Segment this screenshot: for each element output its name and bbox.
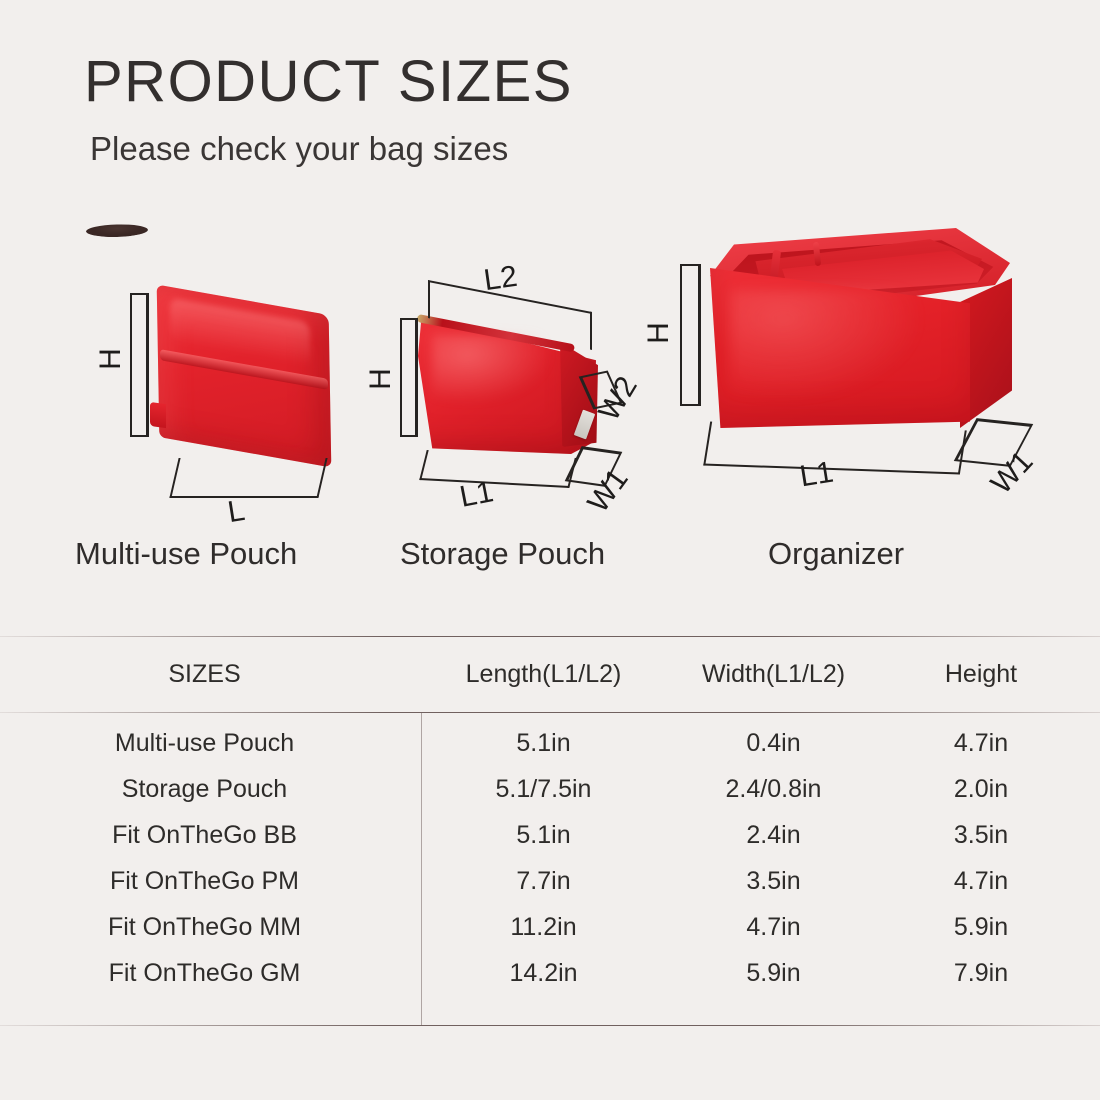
product-captions: Multi-use Pouch Storage Pouch Organizer xyxy=(0,536,1100,582)
page-subtitle: Please check your bag sizes xyxy=(90,131,984,167)
caption-storage-pouch: Storage Pouch xyxy=(400,536,605,572)
cell-height: 7.9in xyxy=(881,959,1081,988)
multi-use-pouch-length-bracket xyxy=(169,458,327,498)
divider-bottom xyxy=(0,1025,1100,1026)
page-title: PRODUCT SIZES xyxy=(84,52,984,113)
table-row: Fit OnTheGo MM 11.2in 4.7in 5.9in xyxy=(0,904,1100,950)
cell-size-name: Fit OnTheGo MM xyxy=(0,913,421,942)
cell-length: 14.2in xyxy=(421,959,666,988)
table-body: Multi-use Pouch 5.1in 0.4in 4.7in Storag… xyxy=(0,712,1100,996)
table-row: Fit OnTheGo GM 14.2in 5.9in 7.9in xyxy=(0,950,1100,996)
cell-length: 5.1in xyxy=(421,821,666,850)
column-header-length: Length(L1/L2) xyxy=(421,660,666,689)
cell-size-name: Multi-use Pouch xyxy=(0,729,421,758)
dimension-label-l1: L1 xyxy=(457,475,496,515)
column-header-sizes: SIZES xyxy=(0,660,421,689)
cell-width: 2.4/0.8in xyxy=(666,775,881,804)
storage-pouch-l1-bracket xyxy=(419,450,576,488)
cell-width: 0.4in xyxy=(666,729,881,758)
illustration-multi-use-pouch: H L xyxy=(130,280,390,530)
dimension-label-h: H xyxy=(364,368,398,390)
dimension-label-h: H xyxy=(94,348,128,370)
cell-width: 4.7in xyxy=(666,913,881,942)
cell-size-name: Fit OnTheGo BB xyxy=(0,821,421,850)
organizer-l1-bracket xyxy=(703,421,967,474)
organizer-highlight xyxy=(730,290,920,400)
cell-length: 7.7in xyxy=(421,867,666,896)
size-table: SIZES Length(L1/L2) Width(L1/L2) Height … xyxy=(0,636,1100,996)
table-row: Fit OnTheGo BB 5.1in 2.4in 3.5in xyxy=(0,812,1100,858)
product-size-chart: PRODUCT SIZES Please check your bag size… xyxy=(0,0,1100,1100)
caption-organizer: Organizer xyxy=(768,536,904,572)
cell-height: 4.7in xyxy=(881,867,1081,896)
organizer-height-bracket xyxy=(680,264,701,406)
dimension-label-l: L xyxy=(225,494,247,530)
cell-height: 2.0in xyxy=(881,775,1081,804)
storage-pouch-height-bracket xyxy=(400,318,418,437)
table-header-row: SIZES Length(L1/L2) Width(L1/L2) Height xyxy=(0,636,1100,712)
cell-width: 5.9in xyxy=(666,959,881,988)
cell-size-name: Storage Pouch xyxy=(0,775,421,804)
cell-height: 4.7in xyxy=(881,729,1081,758)
cell-size-name: Fit OnTheGo GM xyxy=(0,959,421,988)
cell-width: 3.5in xyxy=(666,867,881,896)
cell-length: 11.2in xyxy=(421,913,666,942)
dimension-label-h: H xyxy=(642,322,676,344)
illustration-organizer: H L1 W1 xyxy=(660,220,1060,540)
dimension-label-l1: L1 xyxy=(798,456,836,495)
header: PRODUCT SIZES Please check your bag size… xyxy=(84,52,984,167)
cell-size-name: Fit OnTheGo PM xyxy=(0,867,421,896)
table-row: Storage Pouch 5.1/7.5in 2.4/0.8in 2.0in xyxy=(0,766,1100,812)
cell-width: 2.4in xyxy=(666,821,881,850)
table-row: Fit OnTheGo PM 7.7in 3.5in 4.7in xyxy=(0,858,1100,904)
cell-height: 3.5in xyxy=(881,821,1081,850)
multi-use-pouch-tab xyxy=(150,402,166,428)
illustration-storage-pouch: L2 H W2 L1 W1 xyxy=(400,278,680,538)
dimension-label-l2: L2 xyxy=(482,260,520,298)
multi-use-pouch-height-bracket xyxy=(130,293,149,437)
caption-multi-use-pouch: Multi-use Pouch xyxy=(75,536,297,572)
cell-length: 5.1in xyxy=(421,729,666,758)
cell-length: 5.1/7.5in xyxy=(421,775,666,804)
cell-height: 5.9in xyxy=(881,913,1081,942)
column-header-height: Height xyxy=(881,660,1081,689)
column-header-width: Width(L1/L2) xyxy=(666,660,881,689)
table-row: Multi-use Pouch 5.1in 0.4in 4.7in xyxy=(0,720,1100,766)
